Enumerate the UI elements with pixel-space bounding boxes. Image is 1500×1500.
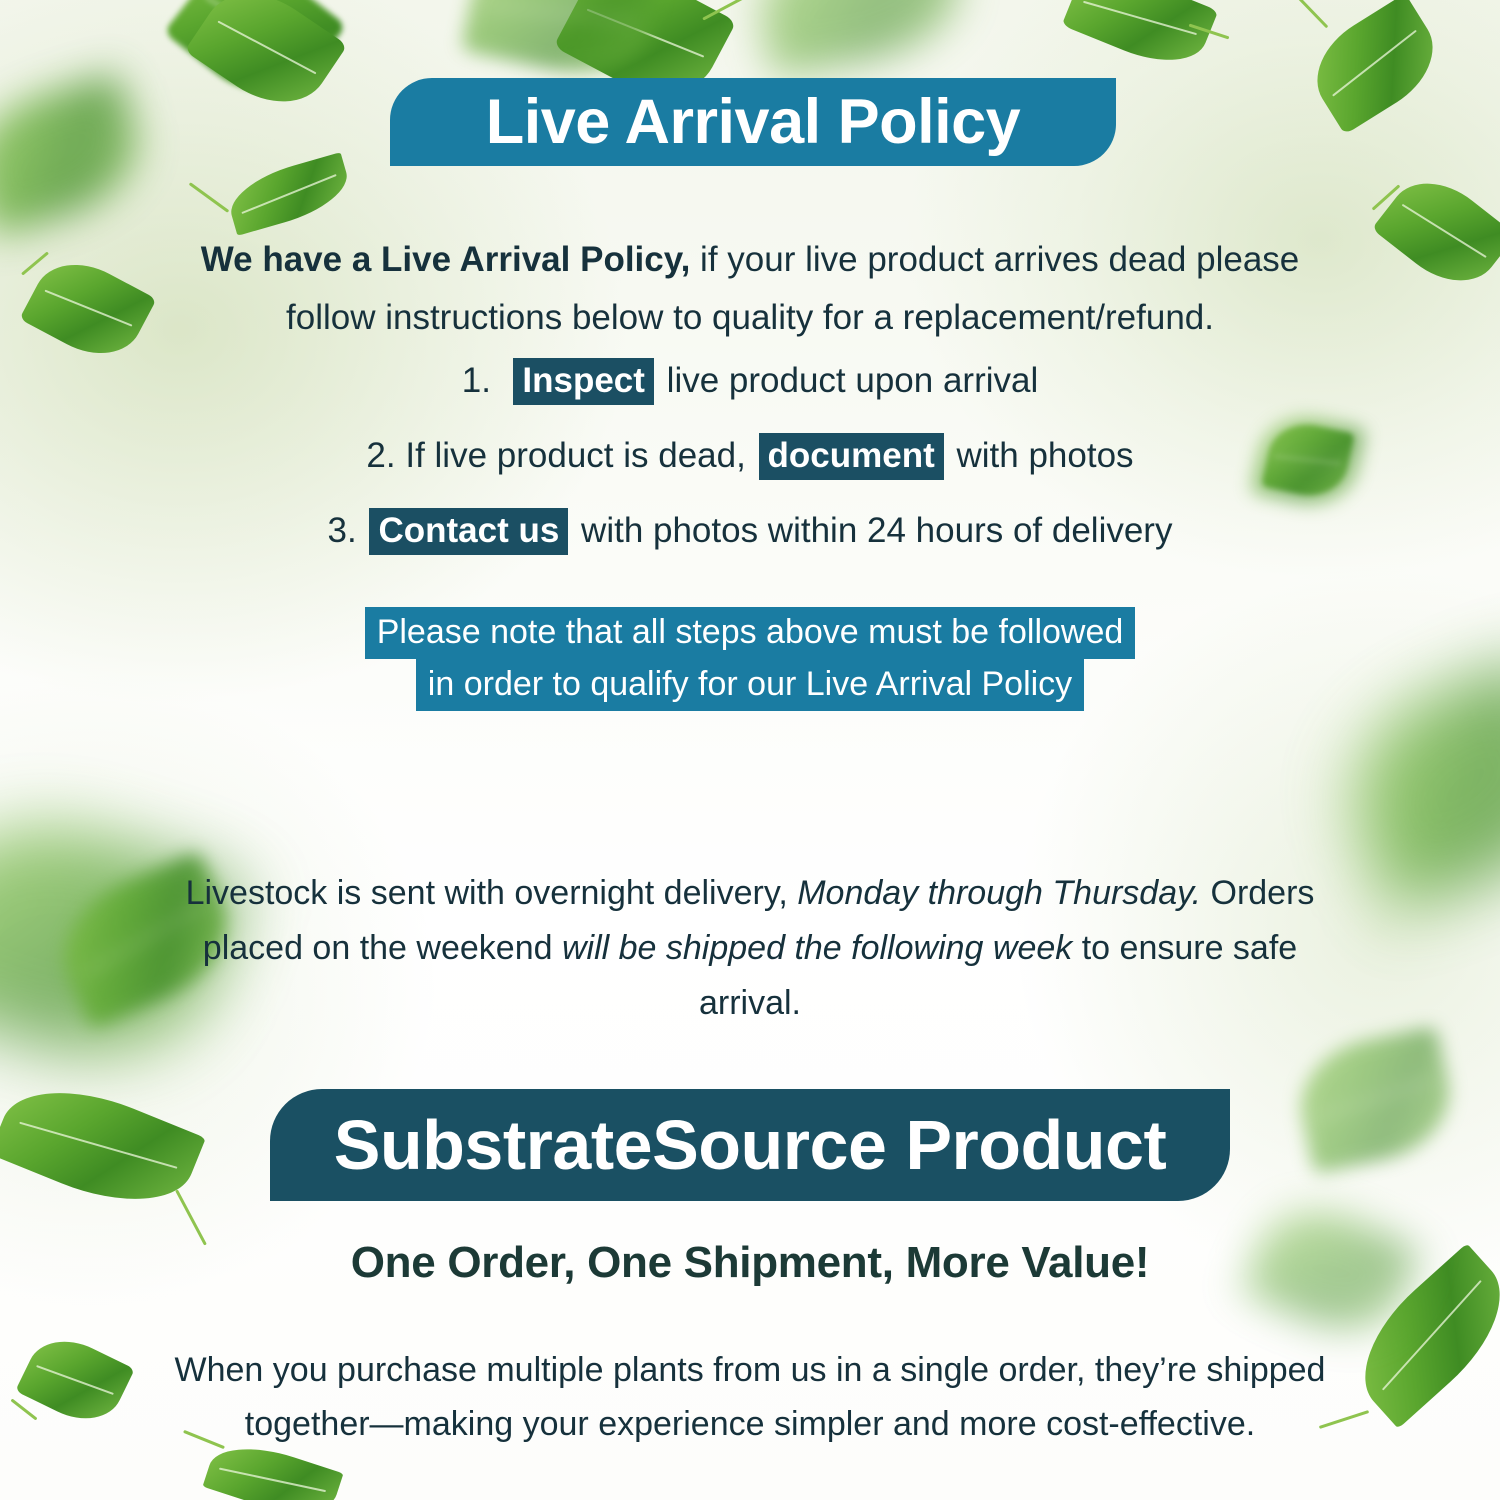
policy-note-line-1: Please note that all steps above must be… (365, 607, 1136, 659)
live-arrival-policy-title: Live Arrival Policy (486, 86, 1020, 158)
closing-paragraph: When you purchase multiple plants from u… (170, 1344, 1330, 1451)
inspect-highlight: Inspect (513, 358, 654, 405)
step-after: with photos within 24 hours of delivery (571, 511, 1172, 550)
content-layer: Live Arrival Policy We have a Live Arriv… (0, 0, 1500, 1500)
steps-list: 1. Inspect live product upon arrival 2. … (150, 358, 1350, 583)
list-item: 1. Inspect live product upon arrival (150, 358, 1350, 405)
shipping-italic-2: will be shipped the following week (562, 929, 1072, 967)
promo-graphic-page: Live Arrival Policy We have a Live Arriv… (0, 0, 1500, 1500)
step-number: 3. (328, 511, 357, 550)
list-item: 3. Contact us with photos within 24 hour… (150, 508, 1350, 555)
step-number: 2. (366, 436, 395, 475)
value-subheading: One Order, One Shipment, More Value! (180, 1238, 1320, 1288)
step-before: If live product is dead, (396, 436, 756, 475)
policy-note-block: Please note that all steps above must be… (150, 607, 1350, 711)
policy-note-line-2: in order to qualify for our Live Arrival… (416, 659, 1084, 711)
step-after: with photos (947, 436, 1134, 475)
shipping-italic-1: Monday through Thursday. (797, 874, 1201, 912)
live-arrival-policy-banner: Live Arrival Policy (390, 78, 1116, 166)
step-number: 1. (462, 361, 491, 400)
intro-paragraph: We have a Live Arrival Policy, if your l… (170, 231, 1330, 347)
intro-bold-lead: We have a Live Arrival Policy, (201, 240, 691, 279)
shipping-part-1: Livestock is sent with overnight deliver… (186, 874, 798, 912)
shipping-schedule-paragraph: Livestock is sent with overnight deliver… (180, 866, 1320, 1031)
step-before (357, 511, 367, 550)
substratesource-product-banner: SubstrateSource Product (270, 1089, 1230, 1201)
document-highlight: document (759, 433, 944, 480)
contact-us-highlight[interactable]: Contact us (369, 508, 568, 555)
step-after: live product upon arrival (657, 361, 1038, 400)
list-item: 2. If live product is dead, document wit… (150, 433, 1350, 480)
substratesource-product-title: SubstrateSource Product (334, 1105, 1167, 1185)
